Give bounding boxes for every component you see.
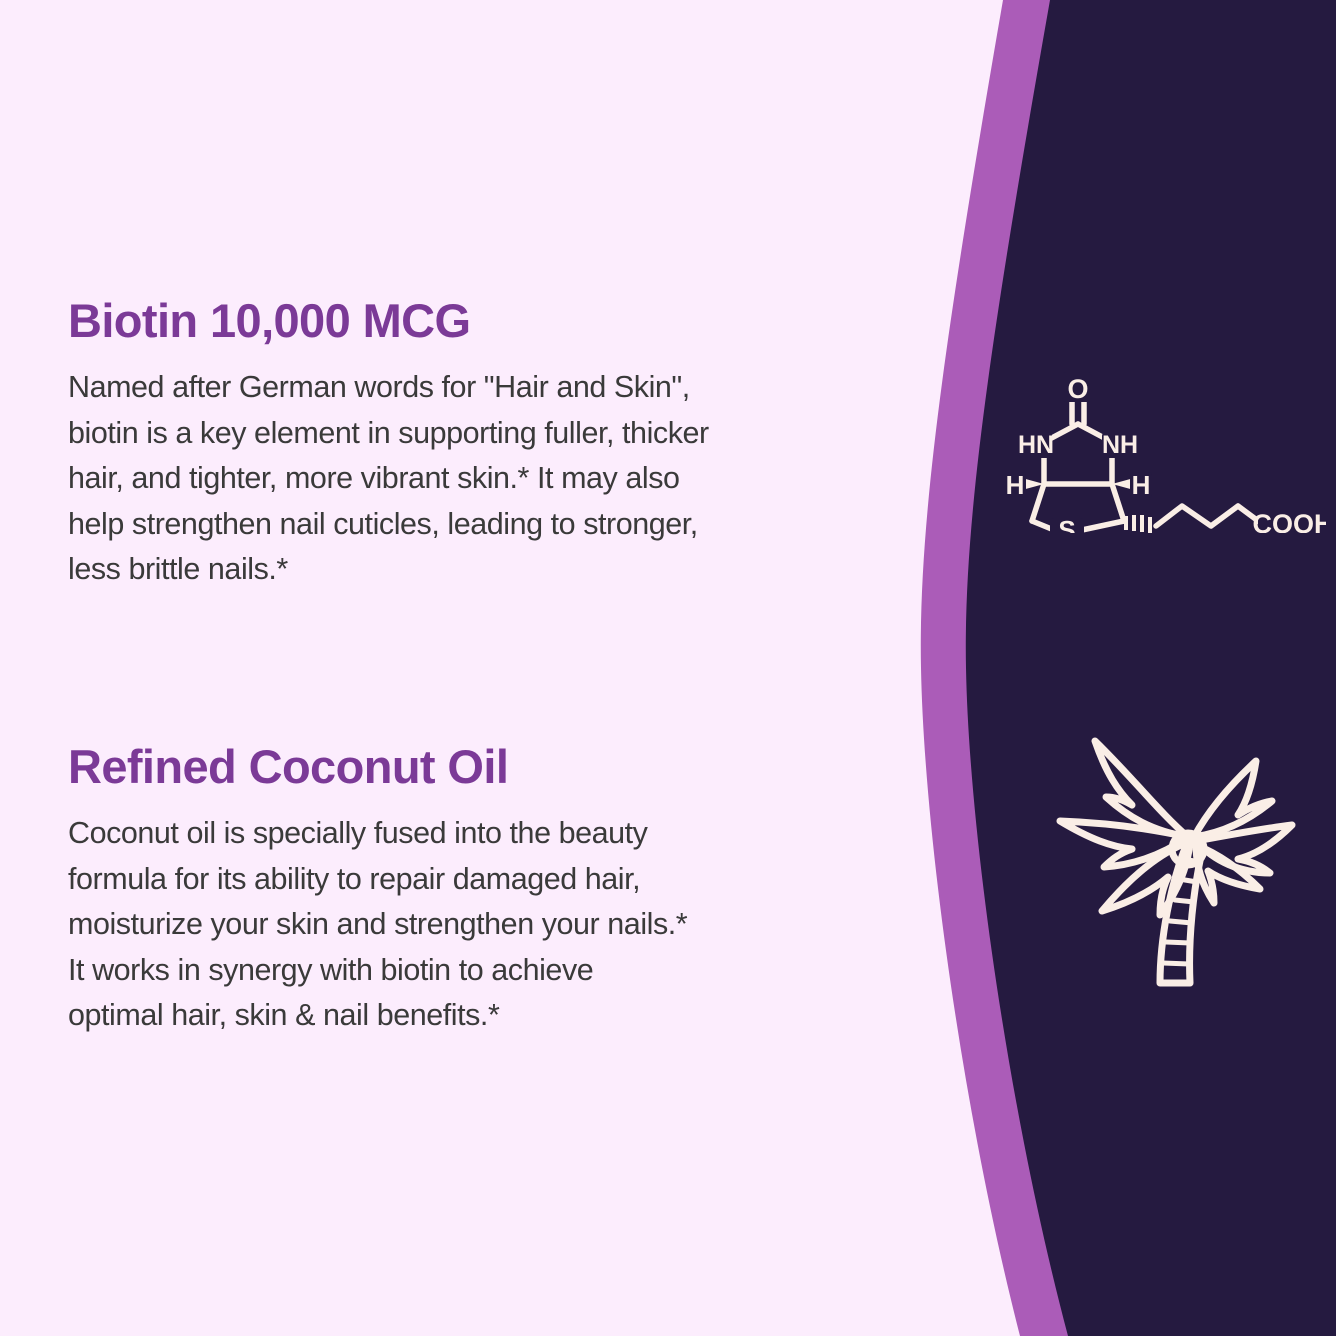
body-line: biotin is a key element in supporting fu… — [68, 411, 898, 456]
body-line: Named after German words for "Hair and S… — [68, 365, 898, 410]
body-line: formula for its ability to repair damage… — [68, 857, 898, 902]
body-line: hair, and tighter, more vibrant skin.* I… — [68, 456, 898, 501]
biotin-molecule-icon: O HN NH H H S COOH — [1006, 358, 1326, 533]
palm-tree-icon — [1048, 725, 1296, 987]
body-line: optimal hair, skin & nail benefits.* — [68, 993, 898, 1038]
section-title-biotin: Biotin 10,000 MCG — [68, 296, 898, 345]
body-line: Coconut oil is specially fused into the … — [68, 811, 898, 856]
hashed-stereo-bond — [1126, 515, 1150, 533]
body-line: less brittle nails.* — [68, 547, 898, 592]
palm-frond-upper-right — [1194, 761, 1272, 837]
section-body-coconut-oil: Coconut oil is specially fused into the … — [68, 811, 898, 1038]
ring-bond-left-to-s — [1032, 484, 1044, 521]
palm-frond-left — [1060, 821, 1188, 867]
body-line: It works in synergy with biotin to achie… — [68, 948, 898, 993]
molecule-label-sulfur: S — [1058, 515, 1075, 533]
product-ingredient-infographic: Biotin 10,000 MCG Named after German wor… — [0, 0, 1336, 1336]
section-biotin: Biotin 10,000 MCG Named after German wor… — [68, 296, 898, 593]
valeric-acid-chain — [1156, 506, 1265, 526]
molecule-label-hydrogen-right: H — [1132, 470, 1151, 500]
body-line: moisturize your skin and strengthen your… — [68, 902, 898, 947]
molecule-label-carboxyl: COOH — [1253, 509, 1327, 533]
text-column: Biotin 10,000 MCG Named after German wor… — [0, 0, 900, 1336]
body-line: help strengthen nail cuticles, leading t… — [68, 502, 898, 547]
ring-bond-s-right — [1082, 521, 1124, 530]
section-title-coconut-oil: Refined Coconut Oil — [68, 742, 898, 791]
section-body-biotin: Named after German words for "Hair and S… — [68, 365, 898, 592]
molecule-label-hydrogen-left: H — [1006, 470, 1024, 500]
section-coconut-oil: Refined Coconut Oil Coconut oil is speci… — [68, 742, 898, 1039]
molecule-label-nitrogen-right: NH — [1102, 431, 1138, 459]
molecule-label-carbonyl-oxygen: O — [1067, 374, 1088, 404]
molecule-label-nitrogen-left: HN — [1018, 431, 1054, 459]
ring-bond-right-down — [1112, 484, 1124, 521]
